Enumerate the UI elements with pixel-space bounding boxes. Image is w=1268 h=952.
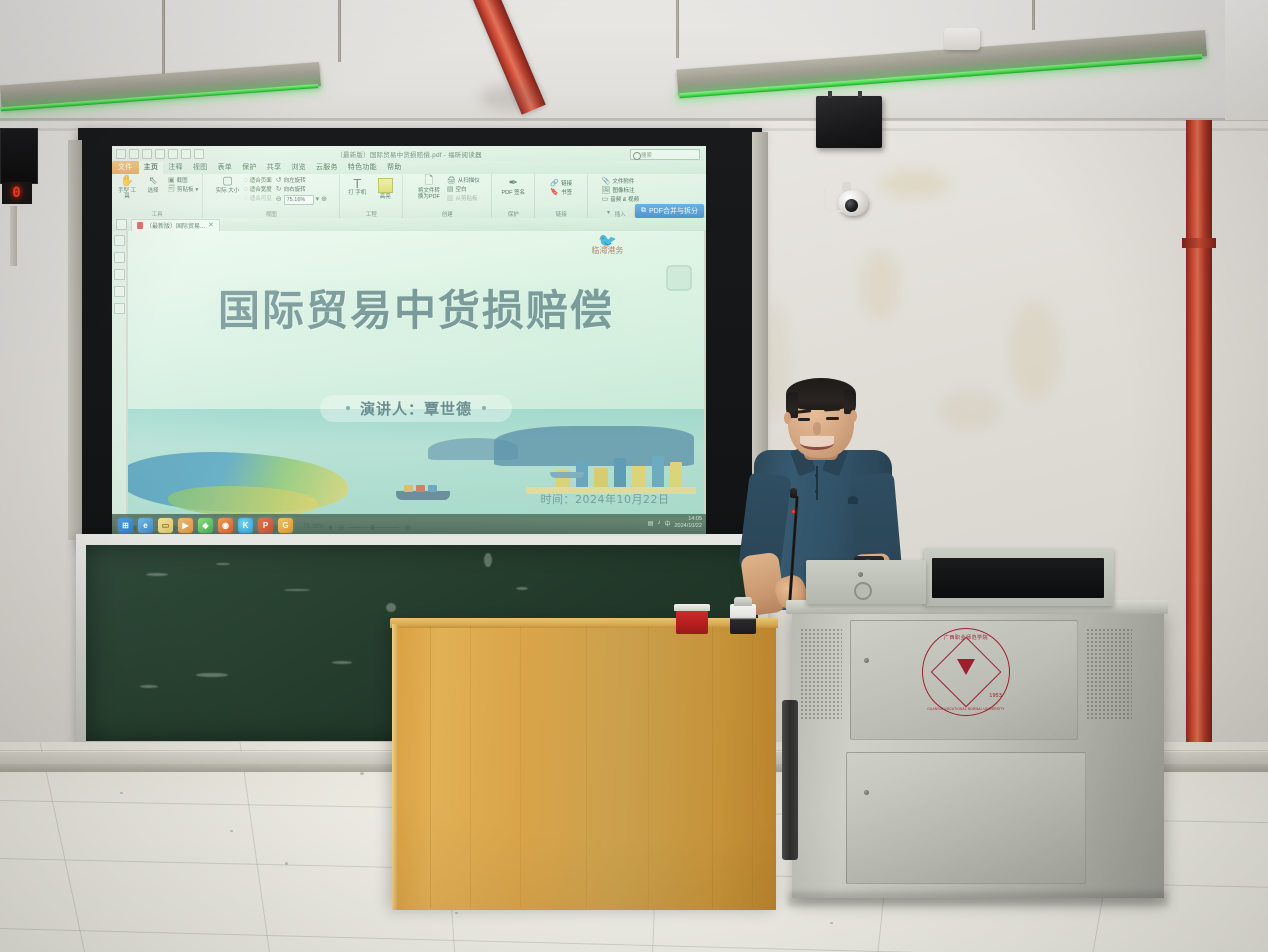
title-bar: （最新版）国际贸易中货损赔偿.pdf - 福昕阅读器 搜索 [112,146,706,161]
speaker-bracket [858,91,862,98]
typewriter-button[interactable]: T 打 字机 [346,178,368,196]
slide-presenter-text: 演讲人：覃世德 [360,398,472,419]
light-hanger [676,0,679,58]
ribbon-group-view: ▢ 实际 大小 ◌ 适合页面 ◌ 适合宽度 [203,174,340,218]
slide-logo: 🐦 临海港务 [591,237,623,255]
slide-container [652,456,664,488]
ribbon-group-tools-label: 工具 [112,210,202,218]
podium-speaker-grille-right [1086,628,1132,720]
ribbon-group-protect: ✒ PDF 签名 保护 [492,174,535,218]
navigation-sidebar[interactable] [112,231,126,518]
pdf-file-icon [137,222,143,229]
wall-speaker-left [0,128,38,184]
wall-stain [940,390,1000,430]
menu-item-share[interactable]: 共享 [262,161,287,174]
wall-stain [1010,300,1060,400]
window-title: （最新版）国际贸易中货损赔偿.pdf - 福昕阅读器 [112,149,706,159]
windows-taskbar[interactable]: ⊞ e ▭ ▶ ◆ ◉ K P G ▤ ♪ 中 14:05 2024/10/22 [112,514,706,536]
actual-size-label: 实际 大小 [216,188,240,194]
menu-item-form[interactable]: 表单 [212,161,237,174]
layers-panel-icon[interactable] [114,286,125,297]
attachment-icon: 📎 [602,178,611,186]
presenter-nose [813,422,821,435]
bird-logo-icon: 🐦 [591,237,623,246]
thermos-cap [734,597,752,606]
cursor-icon: ⇖ [148,176,157,187]
fit-visible-label: 适合可见 [250,195,272,203]
menu-item-browse[interactable]: 浏览 [286,161,311,174]
start-icon[interactable]: ⊞ [118,518,133,533]
tray-time-value: 14:05 [688,516,702,522]
menu-item-cloud[interactable]: 云服务 [311,161,343,174]
slide-container [614,458,626,488]
zoom-in-icon[interactable]: ⊕ [321,196,327,204]
wooden-desk-left-edge [392,624,398,910]
edge-icon[interactable]: e [138,518,153,533]
slide-ship [550,472,584,478]
light-hanger [1032,0,1035,30]
menu-item-protect[interactable]: 保护 [237,161,262,174]
red-standpipe [1186,120,1212,800]
ribbon-group-protect-label: 保护 [492,210,534,218]
ribbon-group-create: 🗋 将文件转 换为PDF 🖨 从扫描仪 ▤ 空白 [403,174,492,218]
podium-panel-knob [858,572,863,577]
slide-date: 时间：2024年10月22日 [540,491,669,507]
pdf-signature-button[interactable]: ✒ PDF 签名 [500,176,526,196]
presenter-eye [798,418,810,421]
volume-icon[interactable]: ♪ [657,520,660,526]
pdf-page-viewport[interactable]: 🐦 临海港务 国际贸易中货损赔偿 演讲人：覃世德 时间：2024年10月22日 [126,231,706,518]
menu-item-home[interactable]: 主页 [139,161,164,174]
red-standpipe-collar [1182,238,1216,248]
presenter-ear [784,412,791,424]
right-door-frame [1225,0,1268,120]
network-icon[interactable]: ▤ [648,520,654,527]
search-icon [633,152,641,160]
firefox-icon[interactable]: ◉ [218,518,233,533]
ribbon-group-link: 🔗 链接 🔖 书签 链接 [535,174,588,218]
rotate-right-label: 向右旋转 [284,186,306,194]
kingsoft-icon[interactable]: K [238,518,253,533]
snapshot-button[interactable]: ▣ 截图 [168,177,198,185]
clipboard-create-icon: ▥ [447,195,454,203]
foxit-reader-window: （最新版）国际贸易中货损赔偿.pdf - 福昕阅读器 搜索 文件 主页 注释 视… [112,146,706,536]
typewriter-icon: T [353,178,361,189]
clipboard-icon: 🗐 [168,186,175,194]
from-clipboard-button[interactable]: ▥ 从剪贴板 [447,195,480,203]
wall-stain [860,250,900,320]
fit-visible-button[interactable]: ◌ 适合可见 [244,195,272,203]
fit-width-label: 适合宽度 [250,186,272,194]
fit-page-label: 适合页面 [250,177,272,185]
bullet-dot-icon [346,406,350,410]
presenter-ear [850,410,857,422]
blank-page-button[interactable]: ▤ 空白 [447,186,480,194]
signature-label: PDF 签名 [502,190,526,196]
wooden-desk-top [390,618,778,628]
smoke-detector [944,28,980,50]
podium-lower-panel [846,752,1086,884]
pdf-merge-label: PDF合并与拆分 [649,206,698,216]
red-jar-lid [674,604,710,611]
highlight-label: 高亮 [380,194,391,200]
menu-bar[interactable]: 文件 主页 注释 视图 表单 保护 共享 浏览 云服务 特色功能 帮助 [112,161,706,174]
fit-page-button[interactable]: ◌ 适合页面 [244,177,272,185]
search-placeholder: 搜索 [641,151,652,159]
select-tool-label: 选择 [147,188,158,194]
zoom-level-input[interactable]: 75.16% [284,195,314,205]
snapshot-label: 截图 [177,177,188,185]
presenter-shirt-button [815,490,818,493]
clipboard-button[interactable]: 🗐 剪贴板 ▾ [168,186,198,194]
link-icon: 🔗 [550,180,559,188]
cable-bundle [782,700,798,860]
document-tab[interactable]: （最新版）国际贸易... ✕ [131,219,220,231]
blank-page-icon: ▤ [447,186,454,194]
ribbon-group-engineering: T 打 字机 高亮 工程 [340,174,403,218]
led-clock-value: 0 [12,185,21,201]
ime-icon[interactable]: 中 [664,519,670,528]
attachments-panel-icon[interactable] [114,269,125,280]
cctv-camera [838,190,868,216]
red-jar [676,610,708,634]
powerpoint-icon[interactable]: P [258,518,273,533]
bookmark-icon: 🔖 [550,189,559,197]
fit-width-icon: ◌ [244,186,248,194]
tray-clock[interactable]: 14:05 2024/10/22 [674,516,702,530]
led-clock-display: 0 [2,182,32,204]
slide-port-hill [494,426,694,466]
rotate-left-icon: ↺ [276,177,282,185]
attachment-label: 文件附件 [612,178,634,186]
podium-lock-icon [864,658,869,663]
thermos-bottle [730,604,756,634]
emblem-chevron [957,659,975,675]
tray-date-value: 2024/10/22 [674,523,702,529]
cctv-cable [824,188,842,212]
image-annot-label: 图像标注 [612,187,634,195]
microphone-led-icon [792,510,795,513]
system-tray[interactable]: ▤ ♪ 中 14:05 2024/10/22 [648,516,702,530]
image-annotation-button[interactable]: 🖼 图像标注 [602,187,639,195]
pdf-merge-split-button[interactable]: ⧉ PDF合并与拆分 [635,204,704,218]
home-tab-icon[interactable] [116,219,127,230]
convert-pdf-icon: 🗋 [424,176,433,187]
document-tab-bar[interactable]: （最新版）国际贸易... ✕ [112,218,706,231]
rotate-left-button[interactable]: ↺ 向左旋转 [276,177,327,185]
slide-presenter: 演讲人：覃世德 [320,395,512,422]
slide-ship [396,491,450,500]
cctv-lens [845,199,858,212]
media-player-icon[interactable]: ▶ [178,518,193,533]
emblem-top-text: 广西职业师范学院 [923,634,1009,641]
signature-icon: ✒ [509,178,518,189]
from-scanner-button[interactable]: 🖨 从扫描仪 [447,177,480,185]
rotate-right-icon: ↻ [276,186,282,194]
slide-ship-cargo [416,485,425,492]
pipe-shadow [480,85,540,111]
actual-size-button[interactable]: ▢ 实际 大小 [216,176,240,194]
convert-to-pdf-button[interactable]: 🗋 将文件转 换为PDF [415,176,443,200]
university-emblem: 广西职业师范学院 GUANGXI VOCATIONAL NORMAL UNIVE… [922,628,1010,716]
presenter-shirt-logo [848,496,858,504]
chevron-down-icon[interactable]: ▾ [316,196,320,204]
zoom-out-icon[interactable]: ⊖ [276,196,282,204]
browser-icon[interactable]: ◆ [198,518,213,533]
presenter-shirt-placket [816,466,818,500]
file-attachment-button[interactable]: 📎 文件附件 [602,178,639,186]
classroom-scene: 0 （最新版）国际贸易中货损赔 [0,0,1268,952]
ribbon-group-link-label: 链接 [535,210,587,218]
menu-item-comment[interactable]: 注释 [163,161,188,174]
bookmarks-panel-icon[interactable] [114,235,125,246]
projected-desktop: （最新版）国际贸易中货损赔偿.pdf - 福昕阅读器 搜索 文件 主页 注释 视… [112,146,706,536]
bookmark-label: 书签 [561,189,572,197]
screen-bracket-left [68,140,82,540]
chevron-down-icon[interactable]: ▾ [196,186,199,194]
merge-icon: ⧉ [641,207,646,215]
bullet-dot-icon [482,406,486,410]
clipboard-create-label: 从剪贴板 [455,195,477,203]
presenter-shirt-button [815,474,818,477]
podium-speaker-grille-left [800,628,842,720]
scanner-label: 从扫描仪 [458,177,480,185]
typewriter-label: 打 字机 [348,190,366,196]
light-hanger [338,0,341,62]
wall-stain [880,170,950,198]
microphone-head [790,488,797,498]
comments-panel-icon[interactable] [114,303,125,314]
snapshot-icon: ▣ [168,177,175,185]
podium-lower-lock-icon [864,790,869,795]
hand-tool-button[interactable]: ✋ 手型 工具 [116,176,138,200]
menu-item-features[interactable]: 特色功能 [343,161,382,174]
search-input[interactable]: 搜索 [630,149,700,160]
wooden-desk [392,622,776,910]
slide-title: 国际贸易中货损赔偿 [128,277,704,338]
menu-item-view[interactable]: 视图 [188,161,213,174]
document-tab-label: （最新版）国际贸易... [146,221,205,230]
ribbon-group-engineering-label: 工程 [340,210,402,218]
wall-conduit [10,206,17,266]
scanner-icon: 🖨 [447,177,456,185]
bookmark-button[interactable]: 🔖 书签 [550,189,572,197]
collapse-ribbon-icon[interactable]: ▾ [607,209,610,216]
blank-page-label: 空白 [455,186,466,194]
media-icon: ▭ [602,196,609,204]
close-tab-icon[interactable]: ✕ [208,221,214,229]
menu-item-help[interactable]: 帮助 [382,161,407,174]
slide-container [670,462,682,488]
highlight-button[interactable]: 高亮 [374,178,396,200]
slide-ship-cargo [428,485,437,492]
rotate-right-button[interactable]: ↻ 向右旋转 [276,186,327,194]
rotate-left-label: 向左旋转 [284,177,306,185]
media-label: 音频 & 视频 [610,196,639,204]
link-button[interactable]: 🔗 链接 [550,180,572,188]
convert-pdf-label: 将文件转 换为PDF [415,188,443,200]
ribbon-group-view-label: 视图 [203,210,339,218]
thumbnails-panel-icon[interactable] [114,252,125,263]
clipboard-label: 剪贴板 [177,186,194,194]
podium-monitor-screen [932,558,1104,598]
emblem-bottom-text: GUANGXI VOCATIONAL NORMAL UNIVERSITY [923,707,1009,711]
speaker-bracket [828,91,832,98]
select-tool-button[interactable]: ⇖ 选择 [142,176,164,194]
slide-container [594,468,608,488]
fit-page-icon: ◌ [244,177,248,185]
emblem-year: 1953 [989,693,1002,699]
presenter-eye [826,417,839,420]
slide-logo-text: 临海港务 [591,246,623,255]
ribbon-group-create-label: 创建 [403,210,491,218]
ribbon-group-tools: ✋ 手型 工具 ⇖ 选择 ▣ 截图 [112,174,203,218]
hand-icon: ✋ [120,176,134,187]
presenter-mouth [800,436,834,450]
wall-speaker [816,96,882,148]
file-explorer-icon[interactable]: ▭ [158,518,173,533]
slide-page-1: 🐦 临海港务 国际贸易中货损赔偿 演讲人：覃世德 时间：2024年10月22日 [128,231,704,518]
actual-size-icon: ▢ [222,176,232,187]
media-button[interactable]: ▭ 音频 & 视频 [602,196,639,204]
highlight-icon [378,178,393,193]
slide-ship-cargo [404,485,413,492]
hand-tool-label: 手型 工具 [116,188,138,200]
ribbon-toolbar[interactable]: ✋ 手型 工具 ⇖ 选择 ▣ 截图 [112,174,706,218]
foxit-reader-icon[interactable]: G [278,518,293,533]
menu-item-file[interactable]: 文件 [112,161,139,174]
fit-width-button[interactable]: ◌ 适合宽度 [244,186,272,194]
podium-shadow [788,892,1168,906]
link-label: 链接 [561,180,572,188]
image-annot-icon: 🖼 [602,187,611,195]
slide-container [632,466,646,488]
fit-visible-icon: ◌ [244,195,248,203]
podium-panel-port [854,582,872,600]
